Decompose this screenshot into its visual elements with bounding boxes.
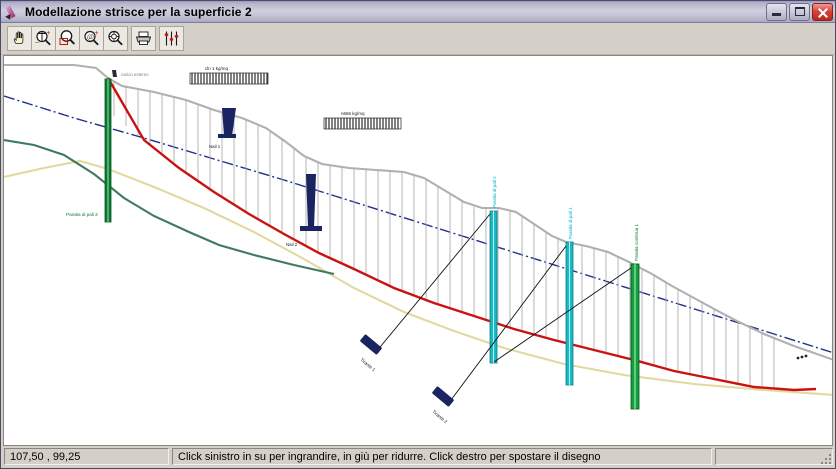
toolbar: + – @ +: [1, 23, 835, 55]
drawing-canvas[interactable]: Paratia di pali 3 Paratia di pali 2 Para…: [3, 55, 833, 446]
stratum-yellow-line: [4, 161, 833, 395]
resize-grip[interactable]: [819, 452, 833, 466]
svg-text:–: –: [35, 39, 39, 46]
maximize-button[interactable]: [789, 3, 810, 21]
minimize-button[interactable]: [766, 3, 787, 21]
zoom-all-icon: @ +: [82, 29, 101, 48]
zoom-window-icon: [58, 29, 77, 48]
svg-text:+: +: [94, 30, 98, 37]
wall-paratia-continua-1[interactable]: [631, 264, 639, 409]
load-label-2: n666 kg/mq: [341, 111, 365, 116]
zoom-out-icon: [106, 29, 125, 48]
status-coordinates: 107,50 , 99,25: [4, 448, 169, 465]
window-title: Modellazione strisce per la superficie 2: [25, 5, 766, 19]
wall-paratia-di-pali-3[interactable]: [105, 79, 111, 222]
nail-label-2: Nail 2: [286, 242, 298, 247]
load-label-1: cln 1 kg/mq: [205, 66, 229, 71]
status-hint: Click sinistro in su per ingrandire, in …: [172, 448, 712, 465]
printer-icon: [134, 29, 153, 48]
anchor-tirante-1[interactable]: [360, 214, 490, 355]
sliders-icon: [162, 29, 181, 48]
wall-label-paratia-continua-1: Paratia continua 1: [634, 224, 639, 261]
terrain-surface-line: [4, 65, 833, 360]
zoom-window-tool-button[interactable]: [55, 26, 80, 51]
anchor-label-tirante-2: Tirante 2: [431, 409, 448, 425]
hand-icon: [10, 29, 29, 48]
window-controls: [766, 3, 833, 21]
nail-label-1: Nail 1: [209, 144, 221, 149]
anchor-label-tirante-1: Tirante 1: [359, 357, 376, 373]
distributed-load-1[interactable]: [190, 73, 268, 84]
modellazione-strisce-window: Modellazione strisce per la superficie 2…: [0, 0, 836, 469]
settings-tool-button[interactable]: [159, 26, 184, 51]
nail-2[interactable]: [300, 174, 322, 231]
status-bar: 107,50 , 99,25 Click sinistro in su per …: [1, 446, 835, 468]
distributed-load-2[interactable]: [324, 118, 401, 129]
right-edge-marker: [797, 355, 808, 360]
water-table-line: [4, 96, 833, 353]
zoom-in-icon: + –: [34, 29, 53, 48]
pan-tool-button[interactable]: [7, 26, 32, 51]
legend-label-carico-esterno: carico esterno: [121, 72, 149, 77]
wall-label-paratia-pali-3: Paratia di pali 3: [66, 212, 98, 217]
wall-label-paratia-pali-2: Paratia di pali 2: [492, 176, 497, 208]
legend-marker-carico-esterno: [112, 70, 117, 77]
title-bar[interactable]: Modellazione strisce per la superficie 2: [1, 1, 835, 23]
wall-label-paratia-pali-1: Paratia di pali 1: [568, 207, 573, 239]
print-tool-button[interactable]: [131, 26, 156, 51]
status-extra: [715, 448, 833, 465]
pencil-icon: [5, 4, 21, 20]
zoom-all-tool-button[interactable]: @ +: [79, 26, 104, 51]
svg-text:+: +: [46, 30, 50, 37]
slope-model-svg: Paratia di pali 3 Paratia di pali 2 Para…: [4, 56, 833, 440]
zoom-in-tool-button[interactable]: + –: [31, 26, 56, 51]
slice-lines: [114, 82, 774, 389]
zoom-out-tool-button[interactable]: [103, 26, 128, 51]
wall-paratia-di-pali-1[interactable]: [566, 242, 573, 385]
close-button[interactable]: [812, 3, 833, 21]
